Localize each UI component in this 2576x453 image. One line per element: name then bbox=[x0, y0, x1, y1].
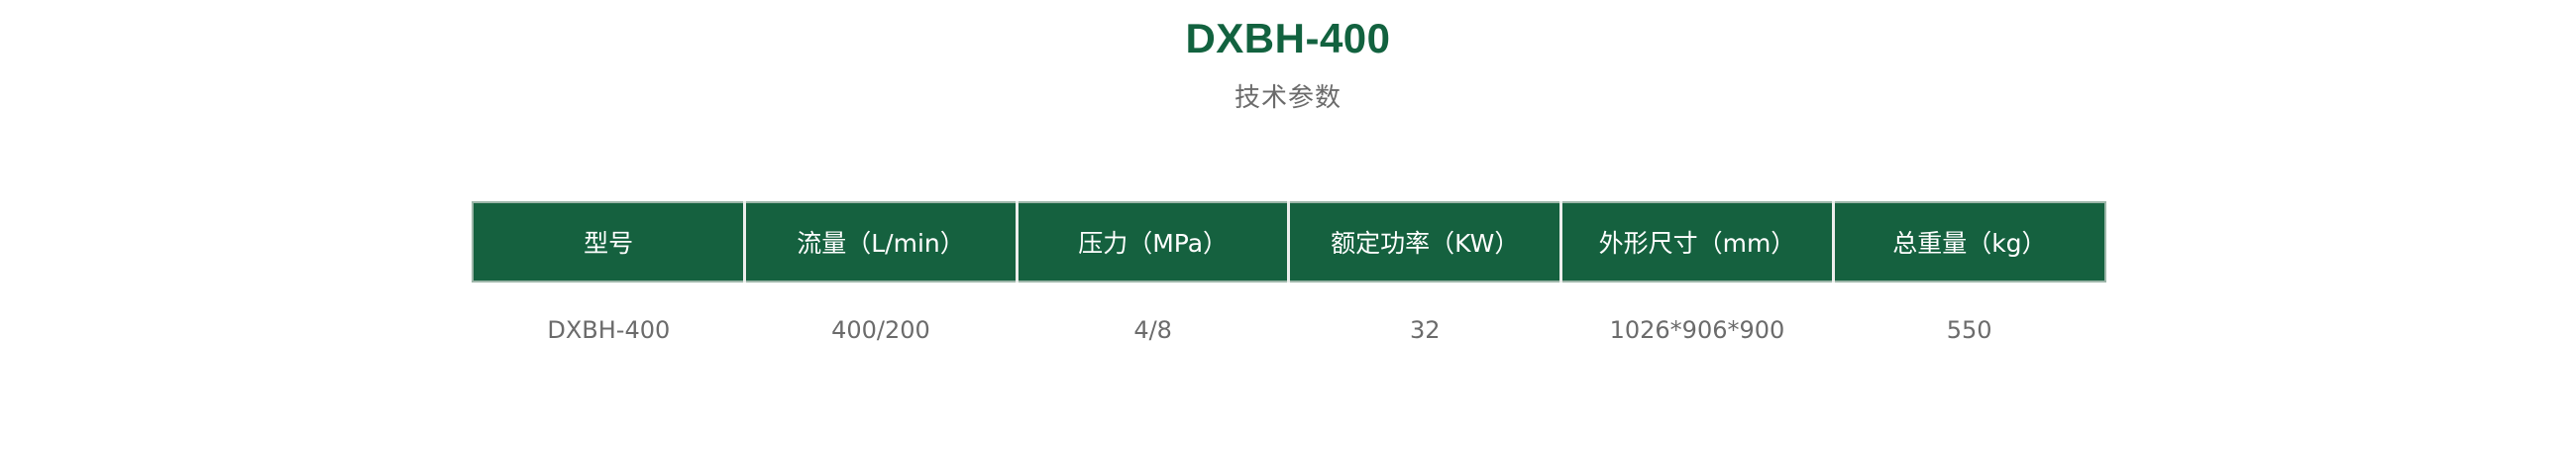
spec-table-container: 型号 流量（L/min） 压力（MPa） 额定功率（KW） 外形尺寸（mm） 总… bbox=[472, 201, 2106, 378]
column-header-total-weight: 总重量（kg） bbox=[1833, 202, 2105, 282]
table-header-row: 型号 流量（L/min） 压力（MPa） 额定功率（KW） 外形尺寸（mm） 总… bbox=[473, 202, 2105, 282]
column-header-pressure: 压力（MPa） bbox=[1017, 202, 1289, 282]
page-title: DXBH-400 bbox=[0, 0, 2576, 59]
cell-dimensions: 1026*906*900 bbox=[1561, 282, 1834, 378]
column-header-rated-power: 额定功率（KW） bbox=[1289, 202, 1561, 282]
cell-total-weight: 550 bbox=[1833, 282, 2105, 378]
page-subtitle: 技术参数 bbox=[0, 59, 2576, 111]
column-header-dimensions: 外形尺寸（mm） bbox=[1561, 202, 1834, 282]
heading-block: DXBH-400 技术参数 bbox=[0, 0, 2576, 111]
spec-sheet-page: DXBH-400 技术参数 型号 流量（L/min） 压力（MPa） 额定功率（… bbox=[0, 0, 2576, 453]
cell-pressure: 4/8 bbox=[1017, 282, 1289, 378]
cell-model: DXBH-400 bbox=[473, 282, 745, 378]
column-header-flow: 流量（L/min） bbox=[745, 202, 1018, 282]
cell-flow: 400/200 bbox=[745, 282, 1018, 378]
technical-parameters-table: 型号 流量（L/min） 压力（MPa） 额定功率（KW） 外形尺寸（mm） 总… bbox=[472, 201, 2106, 378]
table-body: DXBH-400 400/200 4/8 32 1026*906*900 550 bbox=[473, 282, 2105, 378]
table-header: 型号 流量（L/min） 压力（MPa） 额定功率（KW） 外形尺寸（mm） 总… bbox=[473, 202, 2105, 282]
column-header-model: 型号 bbox=[473, 202, 745, 282]
cell-rated-power: 32 bbox=[1289, 282, 1561, 378]
table-row: DXBH-400 400/200 4/8 32 1026*906*900 550 bbox=[473, 282, 2105, 378]
